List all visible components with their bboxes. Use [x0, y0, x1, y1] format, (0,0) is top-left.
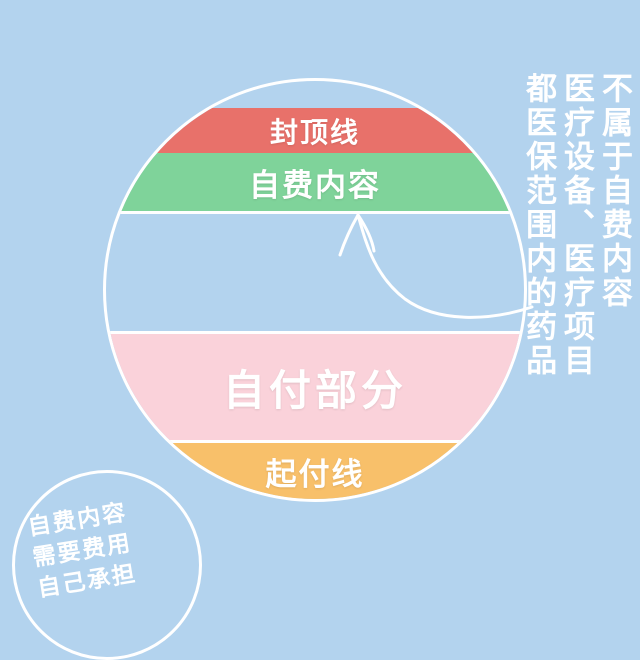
right-text-column-3: 都医保范围内的药品	[520, 72, 556, 378]
band-middle-blank	[106, 214, 524, 331]
reimbursement-circle: 封顶线 自费内容 自付部分 起付线	[103, 78, 527, 502]
band-own-portion: 自付部分	[106, 334, 524, 440]
bottom-left-stamp: 自费内容需要费用自己承担	[12, 470, 202, 660]
band-own-portion-label: 自付部分	[223, 357, 407, 418]
band-self-paid-items: 自费内容	[106, 153, 524, 211]
band-cap-line-label: 封顶线	[270, 111, 360, 151]
band-deductible-line-label: 起付线	[266, 449, 365, 494]
band-self-paid-items-label: 自费内容	[249, 160, 381, 205]
right-text-column-2: 医疗设备、医疗项目	[558, 72, 594, 378]
right-text-column-1: 不属于自费内容	[596, 72, 632, 378]
circle-outline: 封顶线 自费内容 自付部分 起付线	[103, 78, 527, 502]
right-vertical-text-block: 不属于自费内容 医疗设备、医疗项目 都医保范围内的药品	[520, 72, 632, 378]
band-cap-line: 封顶线	[106, 108, 524, 153]
diagram-canvas: 封顶线 自费内容 自付部分 起付线 不属于自费内容 医	[0, 0, 640, 595]
